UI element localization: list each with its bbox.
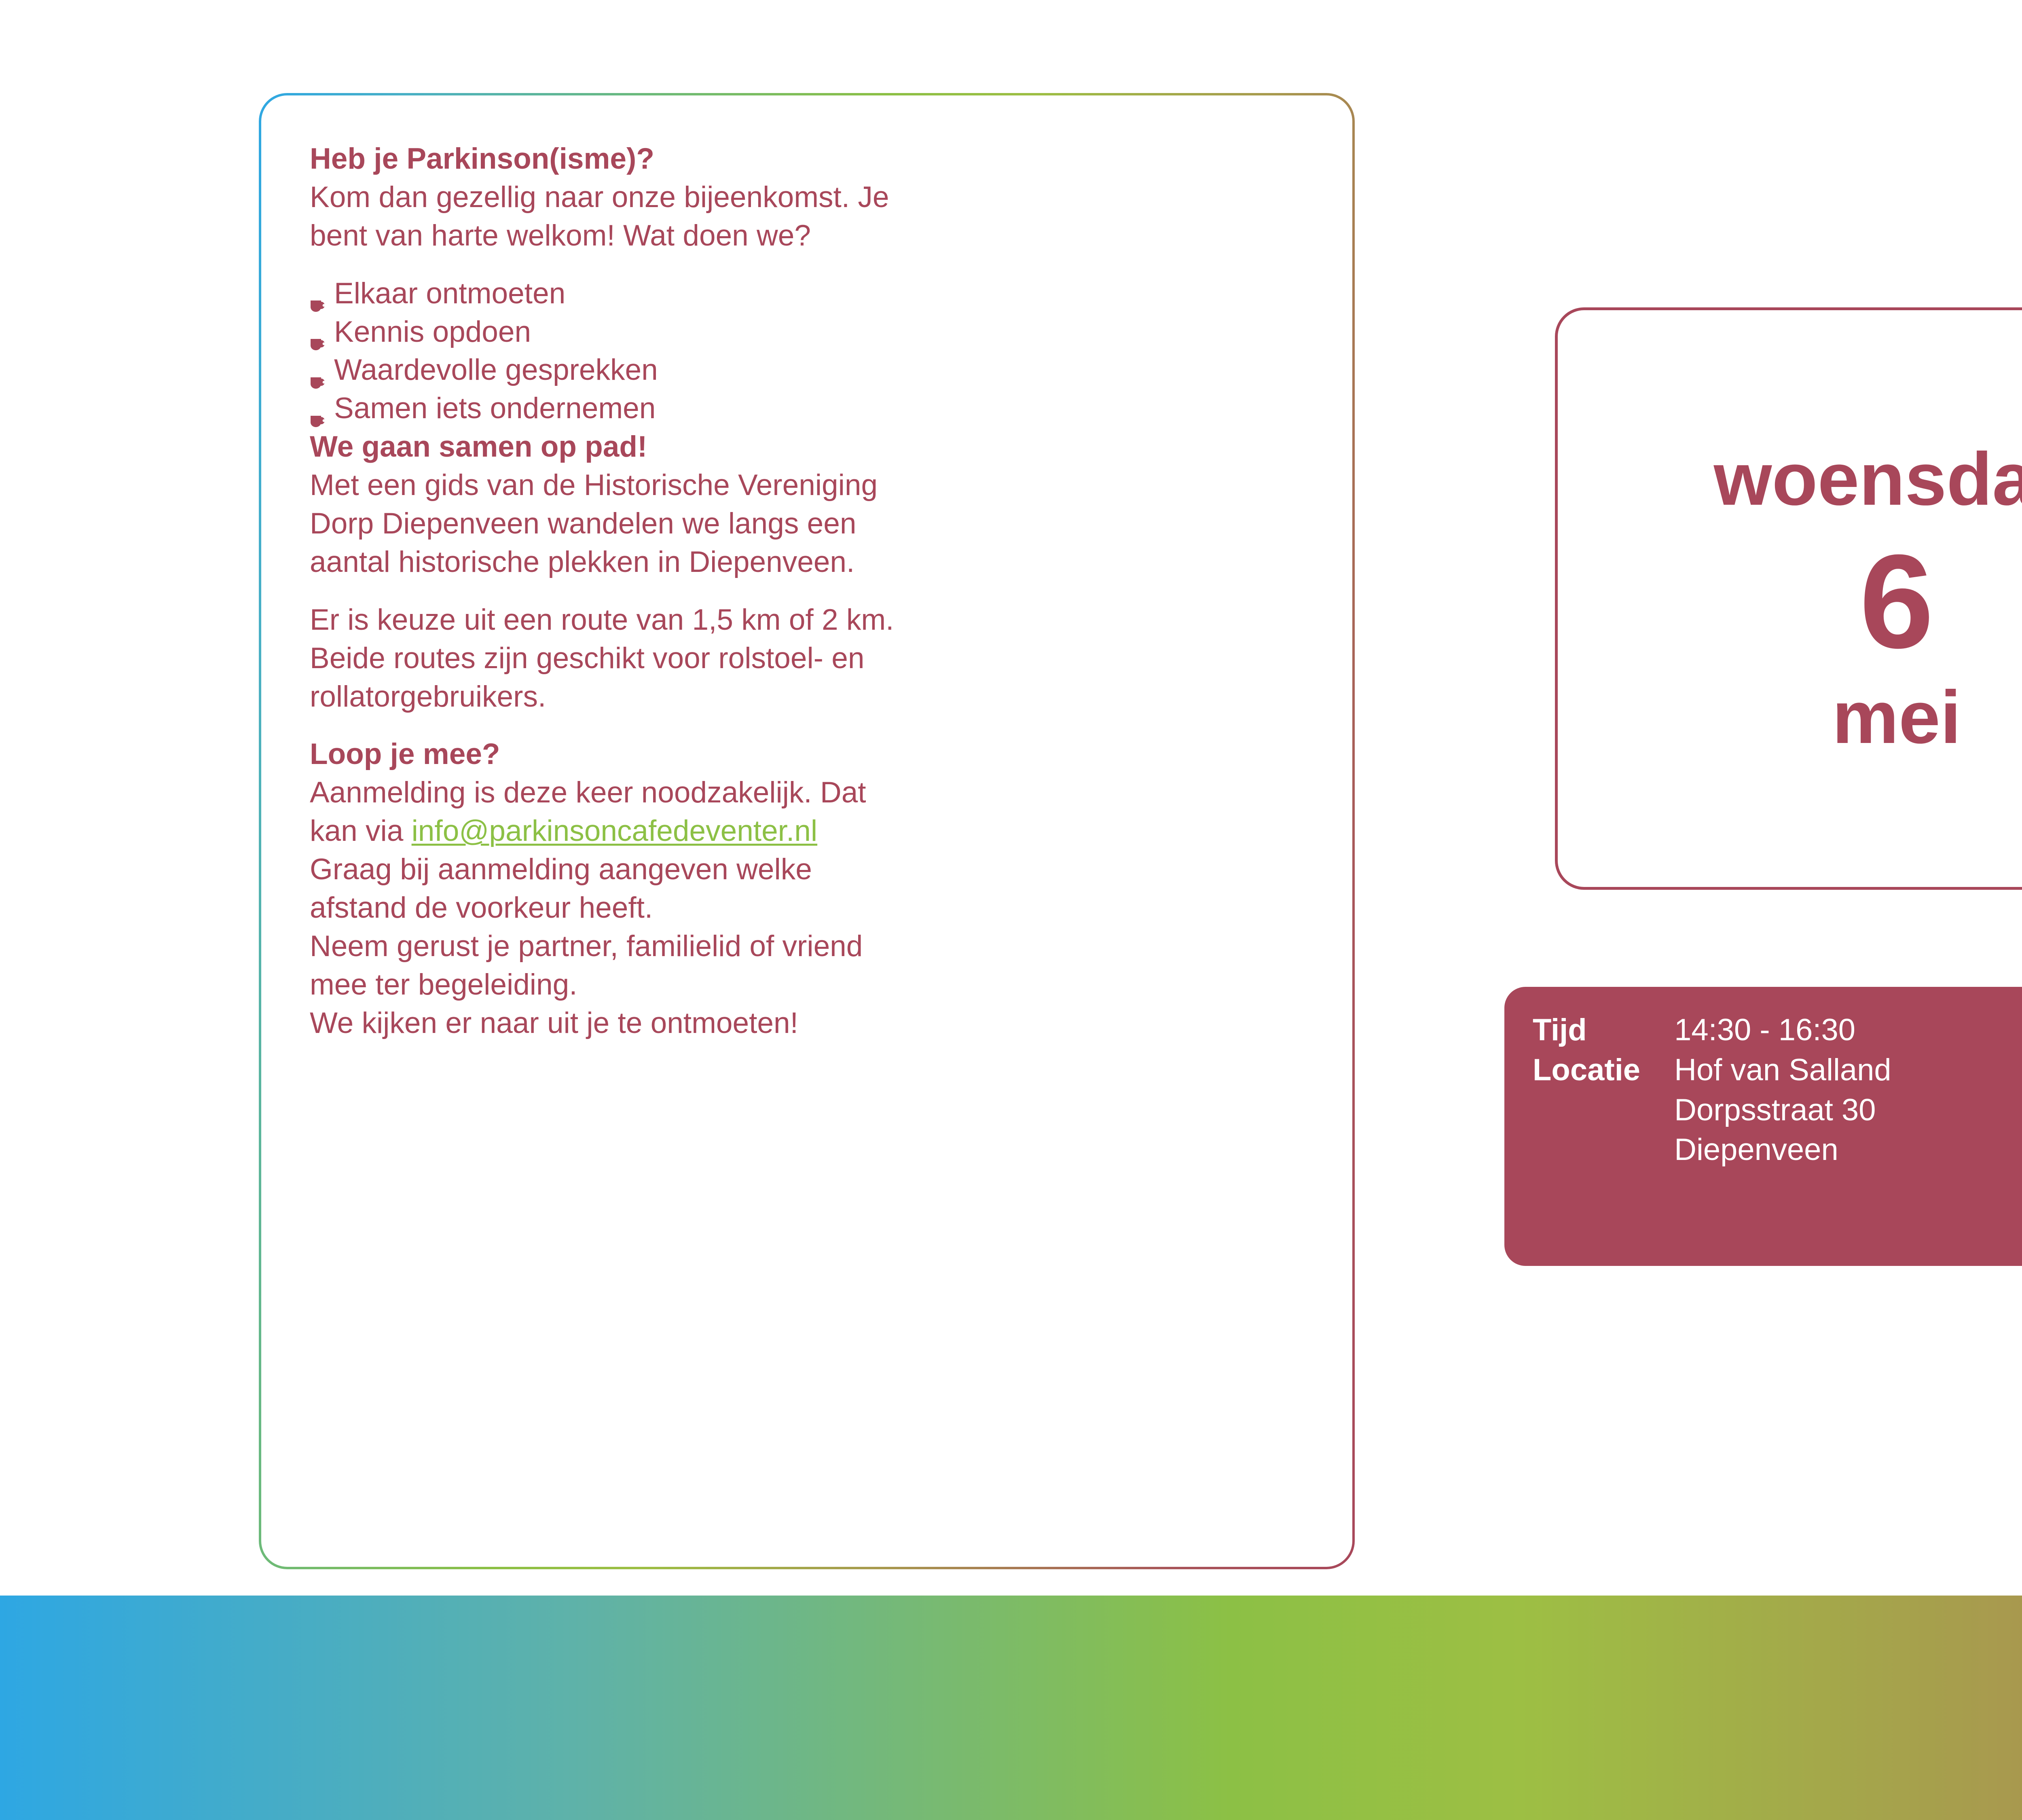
cup-bullet-icon: [310, 286, 328, 302]
details-labels: Tijd Locatie: [1533, 1010, 1640, 1242]
walk-heading: We gaan samen op pad!: [310, 428, 1304, 466]
value-venue: Hof van Salland: [1674, 1050, 1891, 1090]
signup-line-6: mee ter begeleiding.: [310, 966, 1304, 1004]
details-values: 14:30 - 16:30 Hof van Salland Dorpsstraa…: [1674, 1010, 1891, 1242]
info-card-inner: Heb je Parkinson(isme)? Kom dan gezellig…: [261, 95, 1352, 1567]
cup-bullet-icon: [310, 401, 328, 417]
cup-bullet-icon: [310, 362, 328, 379]
list-item: Waardevolle gesprekken: [310, 351, 1304, 389]
list-item-label: Kennis opdoen: [334, 313, 531, 351]
signup-email-line: kan via info@parkinsoncafedeventer.nl: [310, 812, 1304, 851]
value-street: Dorpsstraat 30: [1674, 1090, 1891, 1130]
intro-heading: Heb je Parkinson(isme)?: [310, 140, 1304, 178]
date-weekday: woensdag: [1714, 442, 2022, 517]
date-day-number: 6: [1859, 535, 1934, 668]
signup-heading: Loop je mee?: [310, 735, 1304, 774]
email-link[interactable]: info@parkinsoncafedeventer.nl: [412, 815, 817, 847]
intro-block: Heb je Parkinson(isme)? Kom dan gezellig…: [310, 140, 1304, 255]
walk-line-2: Dorp Diepenveen wandelen we langs een: [310, 505, 1304, 543]
label-location: Locatie: [1533, 1050, 1640, 1090]
signup-line-3: Graag bij aanmelding aangeven welke: [310, 851, 1304, 889]
walk-block: We gaan samen op pad! Met een gids van d…: [310, 428, 1304, 582]
list-item-label: Waardevolle gesprekken: [334, 351, 658, 389]
list-item: Kennis opdoen: [310, 313, 1304, 351]
walk-line-3: aantal historische plekken in Diepenveen…: [310, 543, 1304, 582]
event-details-box: Tijd Locatie 14:30 - 16:30 Hof van Salla…: [1504, 987, 2022, 1266]
value-city: Diepenveen: [1674, 1130, 1891, 1170]
signup-block: Loop je mee? Aanmelding is deze keer noo…: [310, 735, 1304, 1042]
routes-line-3: rollatorgebruikers.: [310, 678, 1304, 716]
intro-line-2: bent van harte welkom! Wat doen we?: [310, 217, 1304, 255]
label-time: Tijd: [1533, 1010, 1640, 1050]
signup-line-1: Aanmelding is deze keer noodzakelijk. Da…: [310, 774, 1304, 812]
bottom-gradient-band: [0, 1596, 2022, 1820]
signup-line-4: afstand de voorkeur heeft.: [310, 889, 1304, 927]
routes-line-1: Er is keuze uit een route van 1,5 km of …: [310, 601, 1304, 639]
activities-list: Elkaar ontmoeten Kennis opdoen Waardevol…: [310, 275, 1304, 428]
list-item-label: Elkaar ontmoeten: [334, 275, 565, 313]
info-text-card: Heb je Parkinson(isme)? Kom dan gezellig…: [259, 93, 1355, 1569]
list-item-label: Samen iets ondernemen: [334, 389, 656, 428]
cup-bullet-icon: [310, 324, 328, 340]
list-item: Samen iets ondernemen: [310, 389, 1304, 428]
signup-line-2-prefix: kan via: [310, 815, 412, 847]
list-item: Elkaar ontmoeten: [310, 275, 1304, 313]
date-month: mei: [1832, 680, 1961, 755]
intro-line-1: Kom dan gezellig naar onze bijeenkomst. …: [310, 178, 1304, 217]
routes-block: Er is keuze uit een route van 1,5 km of …: [310, 601, 1304, 716]
signup-line-5: Neem gerust je partner, familielid of vr…: [310, 927, 1304, 966]
walk-line-1: Met een gids van de Historische Verenigi…: [310, 466, 1304, 505]
signup-line-7: We kijken er naar uit je te ontmoeten!: [310, 1004, 1304, 1043]
value-time: 14:30 - 16:30: [1674, 1010, 1891, 1050]
date-card: woensdag 6 mei: [1555, 307, 2022, 890]
routes-line-2: Beide routes zijn geschikt voor rolstoel…: [310, 639, 1304, 678]
